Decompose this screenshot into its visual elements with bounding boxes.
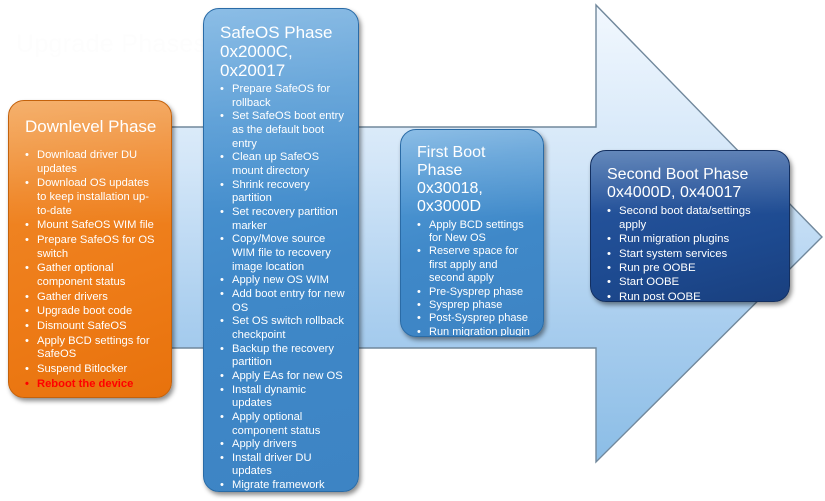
list-item: Download OS updates to keep installation… [23, 177, 161, 218]
list-item: Gather optional component status [23, 262, 161, 289]
list-item: Upgrade boot code [23, 305, 161, 319]
phase-card-safeos[interactable]: SafeOS Phase 0x2000C, 0x20017 Prepare Sa… [203, 8, 359, 492]
phase-codes-secondboot: 0x4000D, 0x40017 [607, 184, 779, 202]
list-item: Apply optional component status [218, 411, 348, 438]
list-item: Start system services [605, 248, 779, 262]
phase-item-list-downlevel: Download driver DU updates Download OS u… [23, 149, 161, 391]
diagram-watermark-title: Upgrade Phases [16, 30, 206, 59]
list-item: Prepare SafeOS for OS switch [23, 234, 161, 261]
list-item: Apply new OS WIM [218, 274, 348, 288]
list-item: Download driver DU updates [23, 149, 161, 176]
phase-item-list-secondboot: Second boot data/settings apply Run migr… [605, 205, 779, 302]
list-item: Apply BCD settings for SafeOS [23, 335, 161, 362]
upgrade-phases-diagram: Upgrade Phases Downlevel Phase Download … [0, 0, 825, 501]
list-item: Shrink recovery partition [218, 179, 348, 206]
phase-title-secondboot: Second Boot Phase [607, 166, 779, 184]
list-item: Run pre OOBE [605, 262, 779, 276]
list-item: Run post OOBE [605, 291, 779, 302]
list-item: Migrate framework (Full) [218, 479, 348, 492]
phase-codes-firstboot: 0x30018, 0x3000D [417, 180, 533, 216]
list-item-reboot: Reboot the device [23, 378, 161, 392]
phase-title-firstboot: First Boot Phase [417, 144, 533, 180]
list-item: Install driver DU updates [218, 452, 348, 479]
list-item: Apply BCD settings for New OS [415, 219, 533, 246]
list-item: Dismount SafeOS [23, 320, 161, 334]
list-item: Copy/Move source WIM file to recovery im… [218, 233, 348, 274]
list-item: Mount SafeOS WIM file [23, 219, 161, 233]
list-item: Run migration plugin [415, 326, 533, 337]
list-item: Apply drivers [218, 438, 348, 452]
list-item: Clean up SafeOS mount directory [218, 151, 348, 178]
list-item: Apply EAs for new OS [218, 370, 348, 384]
list-item: Sysprep phase [415, 299, 533, 312]
list-item: Set OS switch rollback checkpoint [218, 315, 348, 342]
phase-card-secondboot[interactable]: Second Boot Phase 0x4000D, 0x40017 Secon… [590, 150, 790, 302]
phase-item-list-firstboot: Apply BCD settings for New OS Reserve sp… [415, 219, 533, 337]
phase-item-list-safeos: Prepare SafeOS for rollback Set SafeOS b… [218, 83, 348, 492]
phase-title-safeos: SafeOS Phase [220, 23, 348, 42]
phase-codes-safeos: 0x2000C, 0x20017 [220, 42, 348, 80]
list-item: Post-Sysprep phase [415, 312, 533, 325]
list-item: Pre-Sysprep phase [415, 286, 533, 299]
list-item: Prepare SafeOS for rollback [218, 83, 348, 110]
list-item: Gather drivers [23, 291, 161, 305]
list-item: Reserve space for first apply and second… [415, 245, 533, 285]
list-item: Install dynamic updates [218, 384, 348, 411]
list-item: Set recovery partition marker [218, 206, 348, 233]
phase-title-downlevel: Downlevel Phase [25, 117, 161, 136]
list-item: Add boot entry for new OS [218, 288, 348, 315]
list-item: Backup the recovery partition [218, 343, 348, 370]
list-item: Suspend Bitlocker [23, 363, 161, 377]
phase-card-firstboot[interactable]: First Boot Phase 0x30018, 0x3000D Apply … [400, 129, 544, 337]
list-item: Set SafeOS boot entry as the default boo… [218, 110, 348, 151]
list-item: Start OOBE [605, 276, 779, 290]
list-item: Run migration plugins [605, 233, 779, 247]
list-item: Second boot data/settings apply [605, 205, 779, 233]
phase-card-downlevel[interactable]: Downlevel Phase Download driver DU updat… [8, 100, 172, 398]
